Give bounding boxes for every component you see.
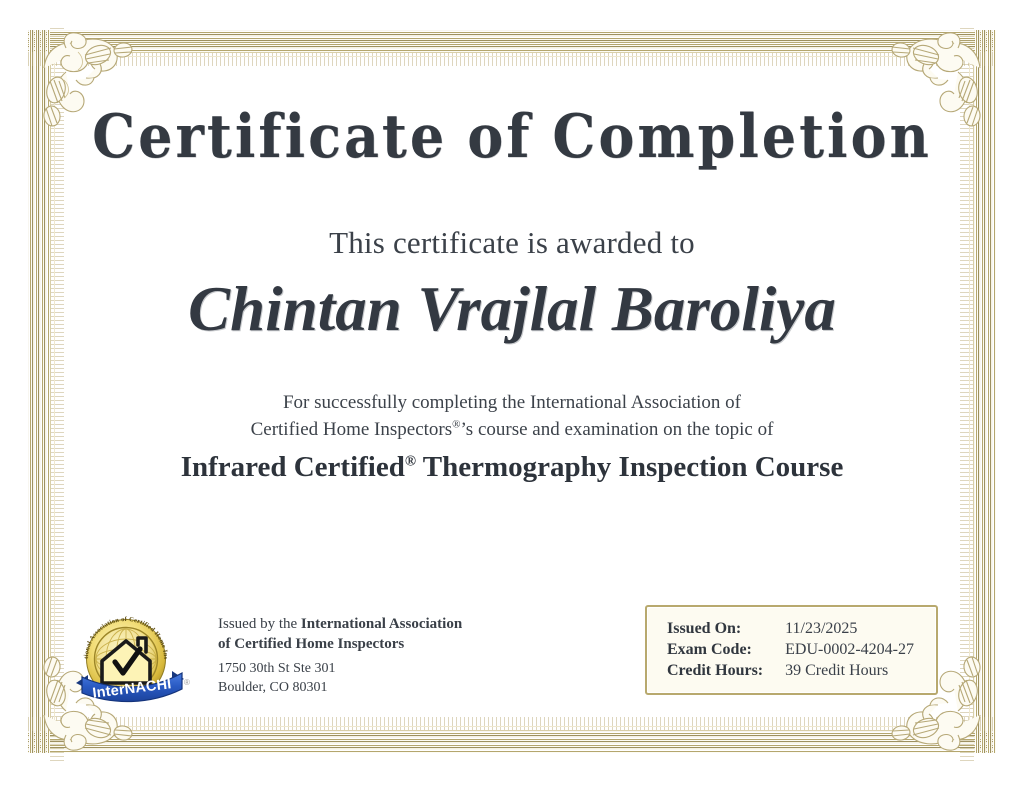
page-title: CertificateofCompletion [82, 106, 942, 169]
certificate-footer: International Association of Certified H… [72, 605, 952, 713]
course-title-part-2: Thermography Inspection Course [423, 451, 844, 483]
table-row: Exam Code: EDU-0002-4204-27 [667, 639, 914, 660]
border-band-top [28, 30, 996, 52]
details-table-body: Issued On: 11/23/2025 Exam Code: EDU-000… [667, 618, 914, 681]
description-line-1: For successfully completing the Internat… [251, 390, 774, 417]
border-band-bottom [28, 731, 996, 753]
issued-by-line: Issued by the International Association [218, 615, 462, 635]
certificate-details-box: Issued On: 11/23/2025 Exam Code: EDU-000… [645, 605, 938, 695]
border-band-right [974, 30, 996, 753]
description-line-2-tail: ’s course and examination on the topic o… [461, 419, 774, 440]
logo-registered-mark-icon: ® [184, 678, 190, 687]
recipient-name: Chintan Vrajlal Baroliya [188, 275, 836, 344]
course-registered-mark-icon: ® [405, 454, 416, 470]
issuer-organization-line-1: International Association [301, 616, 462, 632]
border-hatch-right [960, 28, 974, 763]
border-hatch-bottom [28, 717, 996, 731]
issuer-block: International Association of Certified H… [72, 605, 462, 713]
course-title: Infrared Certified® Thermography Inspect… [181, 450, 844, 485]
title-word-2: of [467, 102, 532, 172]
description-line-2: Certified Home Inspectors®’s course and … [251, 417, 774, 444]
issuer-organization-line-2: of Certified Home Inspectors [218, 635, 462, 655]
details-value-credit-hours: 39 Credit Hours [785, 660, 914, 681]
table-row: Credit Hours: 39 Credit Hours [667, 660, 914, 681]
details-value-exam-code: EDU-0002-4204-27 [785, 639, 914, 660]
issuer-details: Issued by the International Association … [218, 605, 462, 697]
issuer-address-line-1: 1750 30th St Ste 301 [218, 660, 462, 679]
details-value-issued-on: 11/23/2025 [785, 618, 914, 639]
details-label-issued-on: Issued On: [667, 618, 785, 639]
table-row: Issued On: 11/23/2025 [667, 618, 914, 639]
title-word-1: Certificate [92, 102, 447, 172]
certificate-content: CertificateofCompletion This certificate… [62, 64, 962, 719]
awarded-to-label: This certificate is awarded to [329, 225, 695, 261]
course-description: For successfully completing the Internat… [251, 390, 774, 444]
issuer-address-line-2: Boulder, CO 80301 [218, 679, 462, 698]
details-table: Issued On: 11/23/2025 Exam Code: EDU-000… [667, 618, 914, 681]
issuer-address: 1750 30th St Ste 301 Boulder, CO 80301 [218, 660, 462, 698]
title-word-3: Completion [552, 102, 931, 172]
internachi-logo: International Association of Certified H… [72, 605, 204, 713]
description-org: Certified Home Inspectors [251, 419, 453, 440]
certificate-document: CertificateofCompletion This certificate… [0, 0, 1024, 791]
border-band-left [28, 30, 50, 753]
details-label-exam-code: Exam Code: [667, 639, 785, 660]
details-label-credit-hours: Credit Hours: [667, 660, 785, 681]
issued-by-prefix: Issued by the [218, 616, 301, 632]
registered-mark-icon: ® [452, 419, 460, 431]
course-title-part-1: Infrared Certified [181, 451, 405, 483]
